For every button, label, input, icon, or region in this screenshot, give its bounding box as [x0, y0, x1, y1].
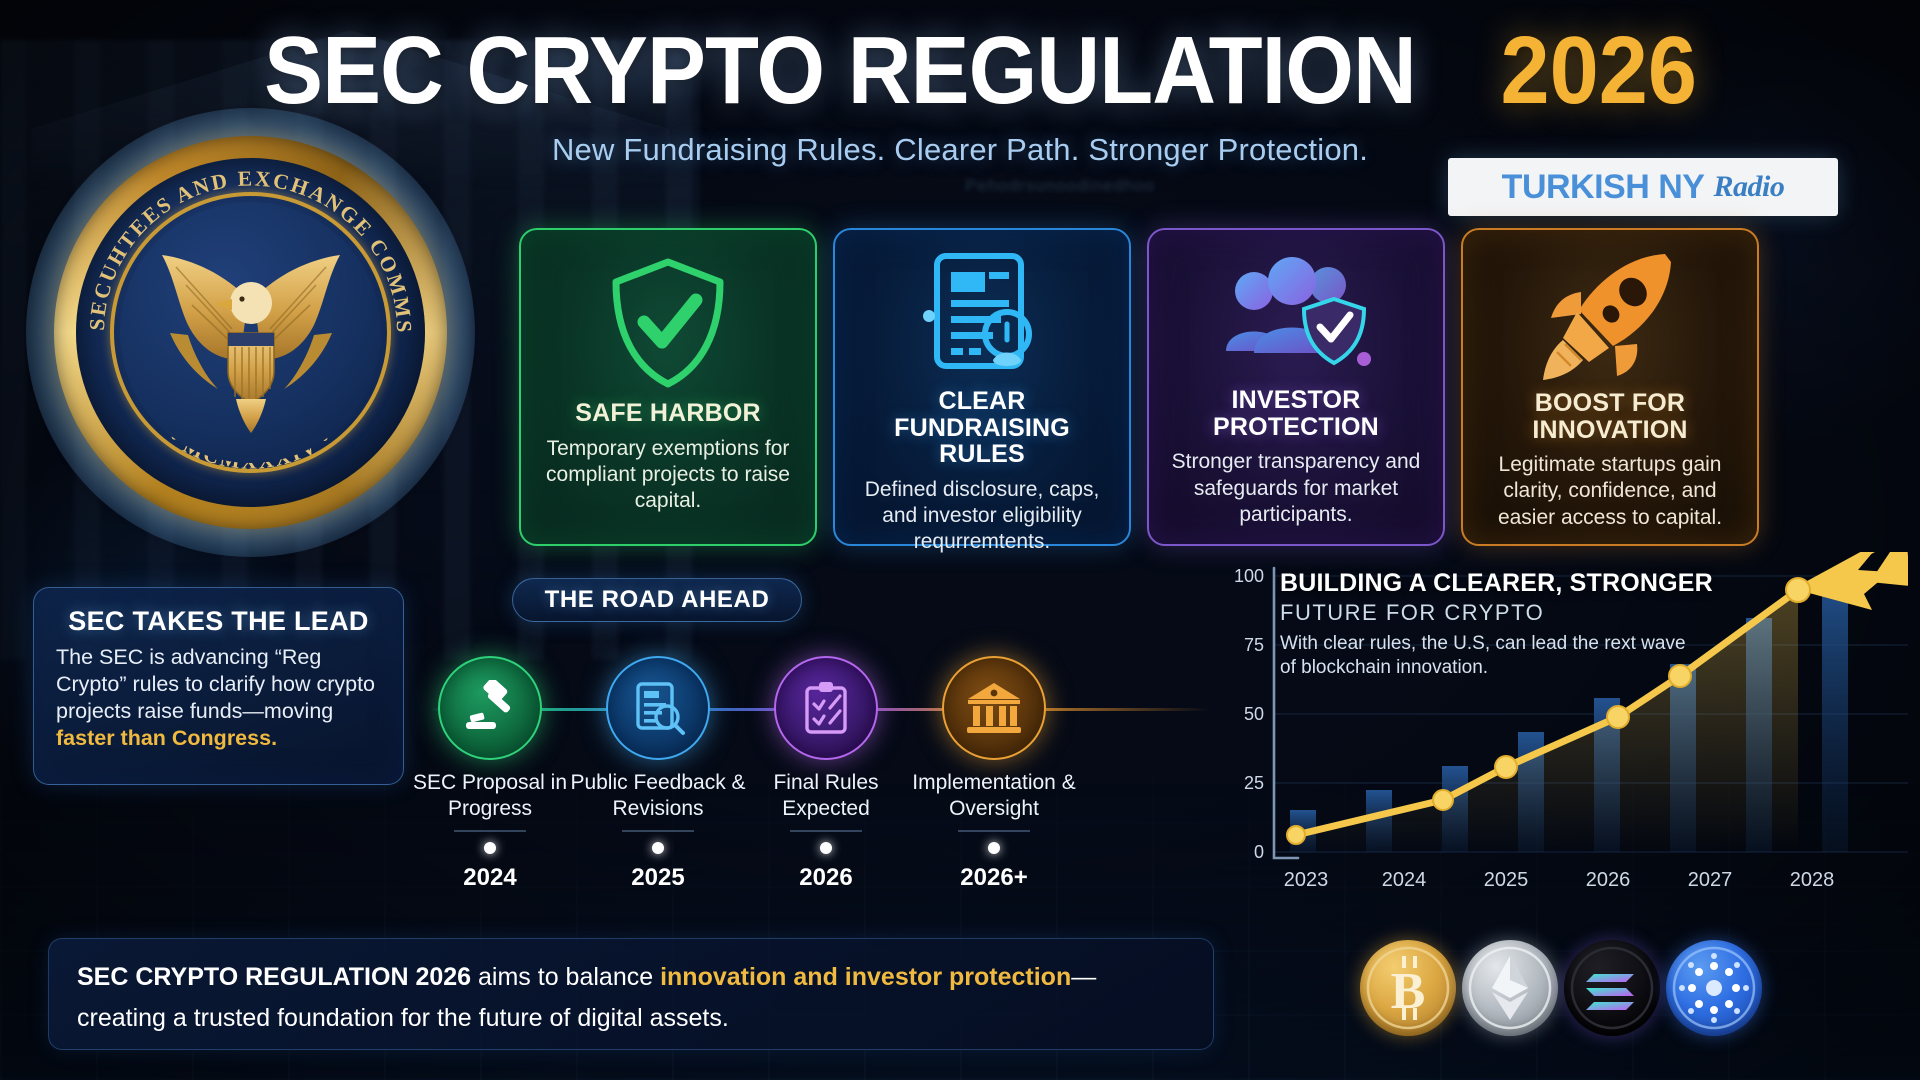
lead-panel-title: SEC TAKES THE LEAD: [56, 606, 381, 637]
roadmap-year-1: 2025: [563, 864, 753, 892]
card-title: INVESTOR PROTECTION: [1165, 387, 1427, 440]
footer-mid: aims to balance: [471, 963, 660, 991]
ethereum-coin-icon[interactable]: [1462, 940, 1558, 1036]
bitcoin-coin-icon[interactable]: B: [1360, 940, 1456, 1036]
roadmap-dot-2: [820, 842, 832, 854]
roadmap-dot-0: [484, 842, 496, 854]
page-title: SEC CRYPTO REGULATION2026: [0, 16, 1920, 126]
document-magnifier-icon: [915, 248, 1049, 386]
card-body: Defined disclosure, caps, and investor e…: [851, 477, 1113, 556]
crypto-coin-row: B: [1360, 940, 1880, 1050]
chart-title: BUILDING A CLEARER, STRONGER: [1280, 569, 1713, 598]
track-seg-4: [1034, 708, 1210, 711]
svg-text:25: 25: [1244, 773, 1264, 793]
gavel-icon: [462, 680, 518, 736]
roadmap-year-0: 2024: [395, 864, 585, 892]
roadmap-node-final-rules[interactable]: [774, 656, 878, 760]
svg-text:100: 100: [1234, 566, 1264, 586]
cardano-coin-icon[interactable]: [1666, 940, 1762, 1036]
roadmap-node-sec-proposal[interactable]: [438, 656, 542, 760]
roadmap-year-3: 2026+: [899, 864, 1089, 892]
svg-text:2025: 2025: [1484, 869, 1529, 891]
roadmap-dot-3: [988, 842, 1000, 854]
turkish-ny-radio-logo[interactable]: TURKISH NY Radio: [1448, 158, 1838, 216]
card-title: SAFE HARBOR: [575, 400, 761, 427]
lead-body-post: .: [271, 726, 277, 750]
lead-body-pre: The SEC is advancing “Reg Crypto” rules …: [56, 645, 375, 723]
footer-highlight: innovation and investor protection: [660, 963, 1071, 991]
bank-icon: [965, 681, 1023, 735]
roadmap-label-3: Implementation & Oversight: [899, 770, 1089, 821]
roadmap-section: THE ROAD AHEAD SEC Proposal in Progress …: [430, 578, 1210, 898]
roadmap-tick-0: [454, 830, 526, 832]
roadmap-tick-1: [622, 830, 694, 832]
svg-text:50: 50: [1244, 704, 1264, 724]
chart-subtitle: FUTURE FOR CRYPTO: [1280, 600, 1544, 626]
title-main: SEC CRYPTO REGULATION: [264, 16, 1416, 126]
footer-line-2: creating a trusted foundation for the fu…: [77, 1002, 1185, 1036]
feature-card-boost-for-innovation[interactable]: BOOST FOR INNOVATION Legitimate startups…: [1461, 228, 1759, 546]
chart-note: With clear rules, the U.S, can lead the …: [1280, 632, 1700, 680]
svg-text:2028: 2028: [1790, 869, 1835, 891]
svg-text:2026: 2026: [1586, 869, 1631, 891]
card-body: Temporary exemptions for compliant proje…: [537, 436, 799, 515]
feature-cards: SAFE HARBOR Temporary exemptions for com…: [0, 228, 1920, 548]
roadmap-label-2: Final Rules Expected: [731, 770, 921, 821]
feature-card-safe-harbor[interactable]: SAFE HARBOR Temporary exemptions for com…: [519, 228, 817, 546]
svg-text:75: 75: [1244, 635, 1264, 655]
footer-summary-bar: SEC CRYPTO REGULATION 2026 aims to balan…: [48, 938, 1214, 1050]
radio-logo-main: TURKISH NY: [1502, 168, 1705, 207]
roadmap-badge: THE ROAD AHEAD: [512, 578, 802, 622]
growth-chart: 100 75 50 25 0 2023 2024 2025 2026 2027 …: [1218, 552, 1908, 902]
lead-panel-body: The SEC is advancing “Reg Crypto” rules …: [56, 644, 381, 752]
roadmap-label-0: SEC Proposal in Progress: [395, 770, 585, 821]
roadmap-dot-1: [652, 842, 664, 854]
roadmap-tick-3: [958, 830, 1030, 832]
sec-takes-the-lead-panel: SEC TAKES THE LEAD The SEC is advancing …: [33, 587, 404, 785]
solana-coin-icon[interactable]: [1564, 940, 1660, 1036]
chart-x-ticks: 2023 2024 2025 2026 2027 2028: [1284, 869, 1835, 891]
roadmap-node-implementation[interactable]: [942, 656, 1046, 760]
blurred-artifact-text: Pehodrsunoodinedhoo: [700, 176, 1420, 196]
roadmap-node-public-feedback[interactable]: [606, 656, 710, 760]
svg-text:0: 0: [1254, 842, 1264, 862]
roadmap-label-1: Public Feedback & Revisions: [563, 770, 753, 821]
footer-line-1: SEC CRYPTO REGULATION 2026 aims to balan…: [77, 961, 1185, 995]
roadmap-tick-2: [790, 830, 862, 832]
svg-text:2024: 2024: [1382, 869, 1427, 891]
title-year: 2026: [1501, 16, 1697, 126]
clipboard-check-icon: [799, 680, 853, 736]
card-body: Legitimate startups gain clarity, confid…: [1479, 452, 1741, 531]
feature-card-clear-fundraising-rules[interactable]: CLEAR FUNDRAISING RULES Defined disclosu…: [833, 228, 1131, 546]
rocket-icon: [1537, 248, 1683, 388]
footer-strong: SEC CRYPTO REGULATION 2026: [77, 963, 471, 991]
people-shield-icon: [1218, 248, 1374, 385]
card-body: Stronger transparency and safeguards for…: [1165, 449, 1427, 528]
feature-card-investor-protection[interactable]: INVESTOR PROTECTION Stronger transparenc…: [1147, 228, 1445, 546]
card-title: BOOST FOR INNOVATION: [1479, 390, 1741, 443]
shield-check-icon: [608, 248, 728, 398]
lead-body-highlight: faster than Congress: [56, 726, 271, 750]
radio-logo-script: Radio: [1713, 170, 1784, 204]
document-search-icon: [630, 680, 686, 736]
chart-y-ticks: 100 75 50 25 0: [1234, 566, 1264, 862]
roadmap-year-2: 2026: [731, 864, 921, 892]
chart-arrow-tip: [1870, 552, 1908, 586]
svg-text:2027: 2027: [1688, 869, 1733, 891]
card-title: CLEAR FUNDRAISING RULES: [851, 388, 1113, 468]
svg-text:2023: 2023: [1284, 869, 1329, 891]
footer-dash: —: [1071, 963, 1096, 991]
svg-text:B: B: [1391, 963, 1426, 1020]
